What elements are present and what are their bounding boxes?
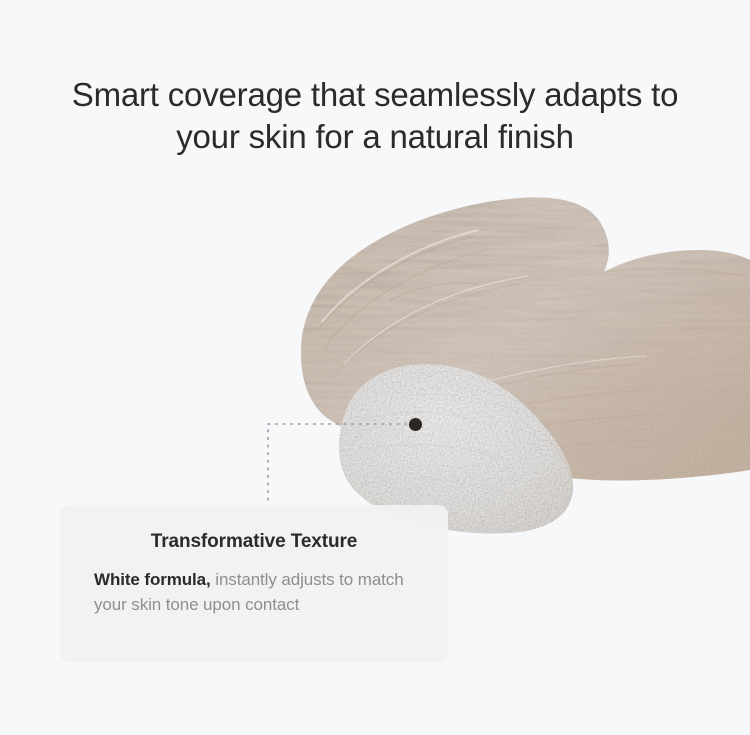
caption-card-body-lead: White formula,	[94, 570, 211, 589]
caption-card-title: Transformative Texture	[90, 531, 418, 553]
caption-card-body: White formula, instantly adjusts to matc…	[90, 567, 418, 617]
caption-card: Transformative Texture White formula, in…	[60, 505, 448, 662]
callout-dot-icon	[409, 418, 422, 431]
page-headline: Smart coverage that seamlessly adapts to…	[0, 74, 750, 158]
product-feature-panel: Transformative Texture White formula, in…	[0, 0, 750, 735]
